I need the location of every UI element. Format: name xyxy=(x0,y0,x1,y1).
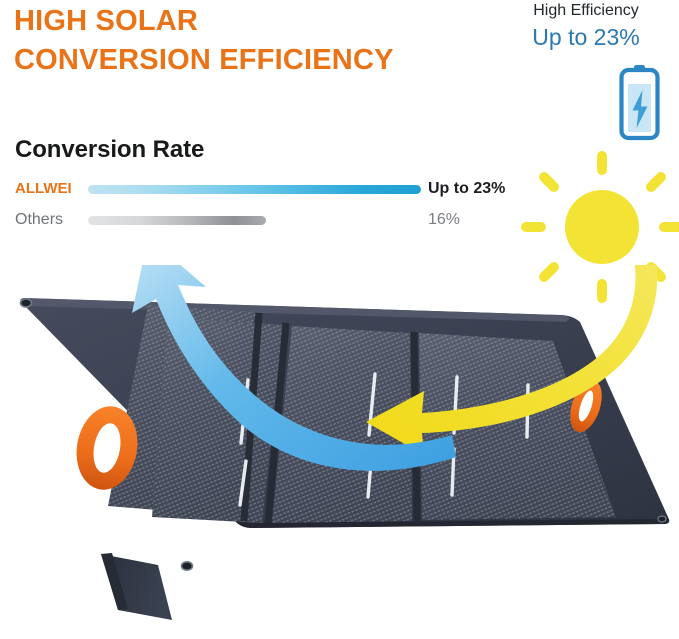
battery-charging-icon xyxy=(617,62,662,142)
promo-graphic: HIGH SOLAR CONVERSION EFFICIENCY High Ef… xyxy=(0,0,679,634)
headline-line-2: CONVERSION EFFICIENCY xyxy=(14,41,514,80)
bar-value-others: 16% xyxy=(428,208,460,232)
bar-label-others: Others xyxy=(15,208,63,232)
bar-label-allwei: ALLWEI xyxy=(15,177,72,201)
efficiency-badge-title: High Efficiency xyxy=(501,0,671,22)
panel-kickstand xyxy=(101,553,172,620)
conversion-rate-title: Conversion Rate xyxy=(15,136,204,164)
solar-panel-illustration xyxy=(0,265,679,634)
efficiency-badge: High Efficiency Up to 23% xyxy=(501,0,671,52)
bar-value-allwei: Up to 23% xyxy=(428,177,505,201)
bar-allwei xyxy=(88,185,421,194)
page-title: HIGH SOLAR CONVERSION EFFICIENCY xyxy=(14,2,514,80)
headline-line-1: HIGH SOLAR xyxy=(14,5,198,37)
bar-others xyxy=(88,216,266,225)
efficiency-badge-value: Up to 23% xyxy=(501,22,671,52)
